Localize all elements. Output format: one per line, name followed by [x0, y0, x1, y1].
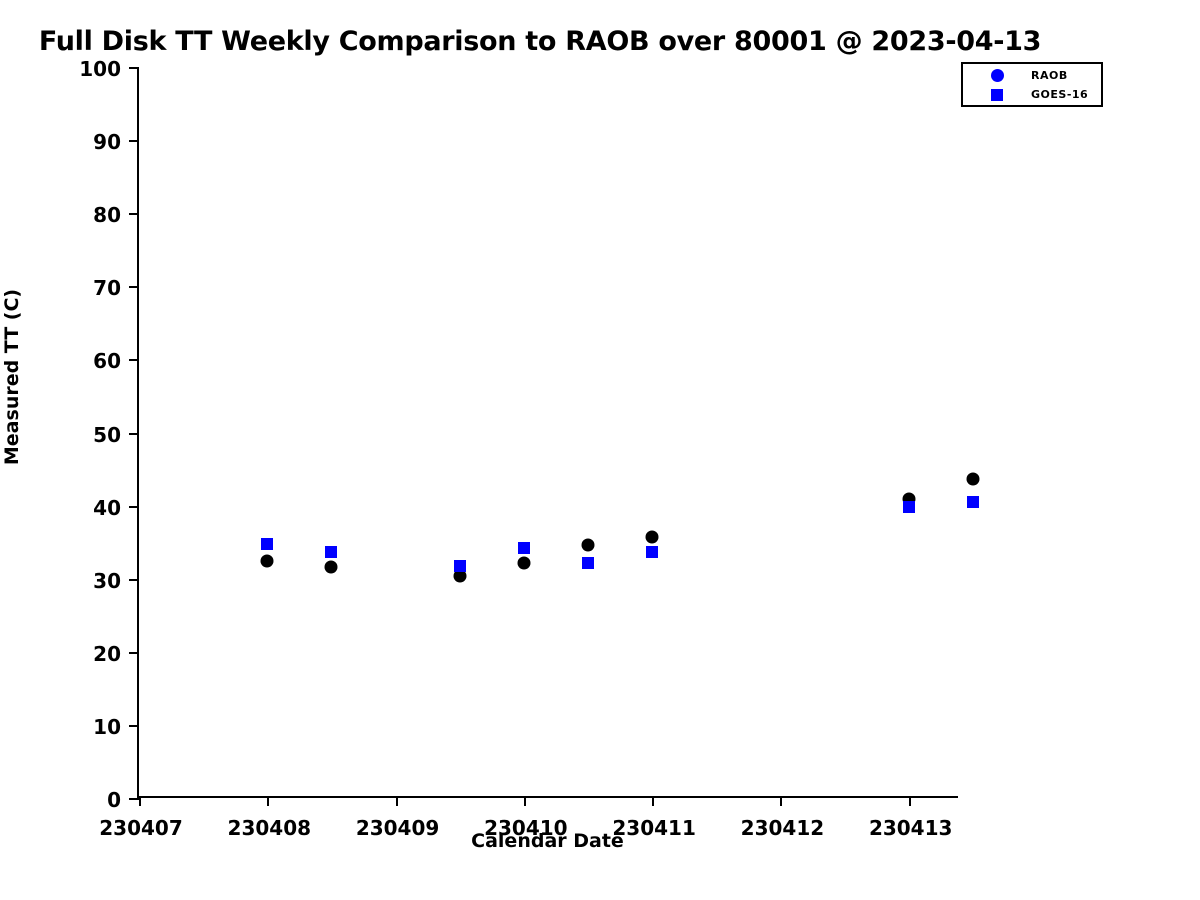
y-tick: 90 — [129, 140, 139, 142]
chart-title: Full Disk TT Weekly Comparison to RAOB o… — [0, 26, 1080, 57]
x-tick: 230412 — [780, 796, 782, 806]
y-tick-label: 30 — [93, 569, 121, 593]
data-point-raob — [325, 561, 338, 574]
y-tick-label: 40 — [93, 496, 121, 520]
y-tick-label: 0 — [107, 788, 121, 812]
data-point-goes-16 — [967, 496, 979, 508]
plot-area: 0102030405060708090100 23040723040823040… — [137, 67, 958, 798]
data-point-goes-16 — [903, 501, 915, 513]
y-tick-label: 20 — [93, 642, 121, 666]
y-tick: 40 — [129, 506, 139, 508]
legend-label-goes16: GOES-16 — [1031, 88, 1088, 101]
data-point-goes-16 — [646, 546, 658, 558]
y-tick: 0 — [129, 798, 139, 800]
x-tick: 230411 — [652, 796, 654, 806]
data-point-raob — [646, 531, 659, 544]
data-point-goes-16 — [325, 546, 337, 558]
y-tick: 80 — [129, 213, 139, 215]
data-point-raob — [966, 473, 979, 486]
data-point-raob — [517, 557, 530, 570]
x-tick: 230407 — [139, 796, 141, 806]
legend-entry-goes16: GOES-16 — [963, 84, 1101, 105]
data-point-goes-16 — [261, 538, 273, 550]
legend-entry-raob: RAOB — [963, 65, 1101, 86]
y-tick: 50 — [129, 433, 139, 435]
y-tick-label: 10 — [93, 715, 121, 739]
legend-marker-square — [991, 89, 1003, 101]
x-axis-label: Calendar Date — [137, 830, 958, 852]
legend-marker-circle — [991, 69, 1004, 82]
y-tick-label: 60 — [93, 349, 121, 373]
data-point-goes-16 — [582, 557, 594, 569]
y-tick: 100 — [129, 67, 139, 69]
y-tick-label: 100 — [79, 57, 121, 81]
x-tick: 230409 — [396, 796, 398, 806]
legend-swatch-square-icon — [963, 89, 1031, 101]
y-axis-label: Measured TT (C) — [1, 77, 23, 677]
y-tick: 10 — [129, 725, 139, 727]
chart-legend: RAOB GOES-16 — [961, 62, 1103, 107]
x-tick: 230408 — [267, 796, 269, 806]
y-tick-label: 70 — [93, 276, 121, 300]
data-point-goes-16 — [454, 560, 466, 572]
legend-swatch-circle-icon — [963, 69, 1031, 82]
y-tick-label: 90 — [93, 130, 121, 154]
x-tick: 230410 — [524, 796, 526, 806]
legend-label-raob: RAOB — [1031, 69, 1068, 82]
y-tick: 70 — [129, 286, 139, 288]
data-point-goes-16 — [518, 542, 530, 554]
y-tick: 30 — [129, 579, 139, 581]
y-tick-label: 50 — [93, 423, 121, 447]
y-tick: 60 — [129, 359, 139, 361]
data-point-raob — [581, 539, 594, 552]
x-tick: 230413 — [909, 796, 911, 806]
data-point-raob — [261, 555, 274, 568]
y-tick: 20 — [129, 652, 139, 654]
y-tick-label: 80 — [93, 203, 121, 227]
chart-figure: Full Disk TT Weekly Comparison to RAOB o… — [0, 0, 1200, 900]
